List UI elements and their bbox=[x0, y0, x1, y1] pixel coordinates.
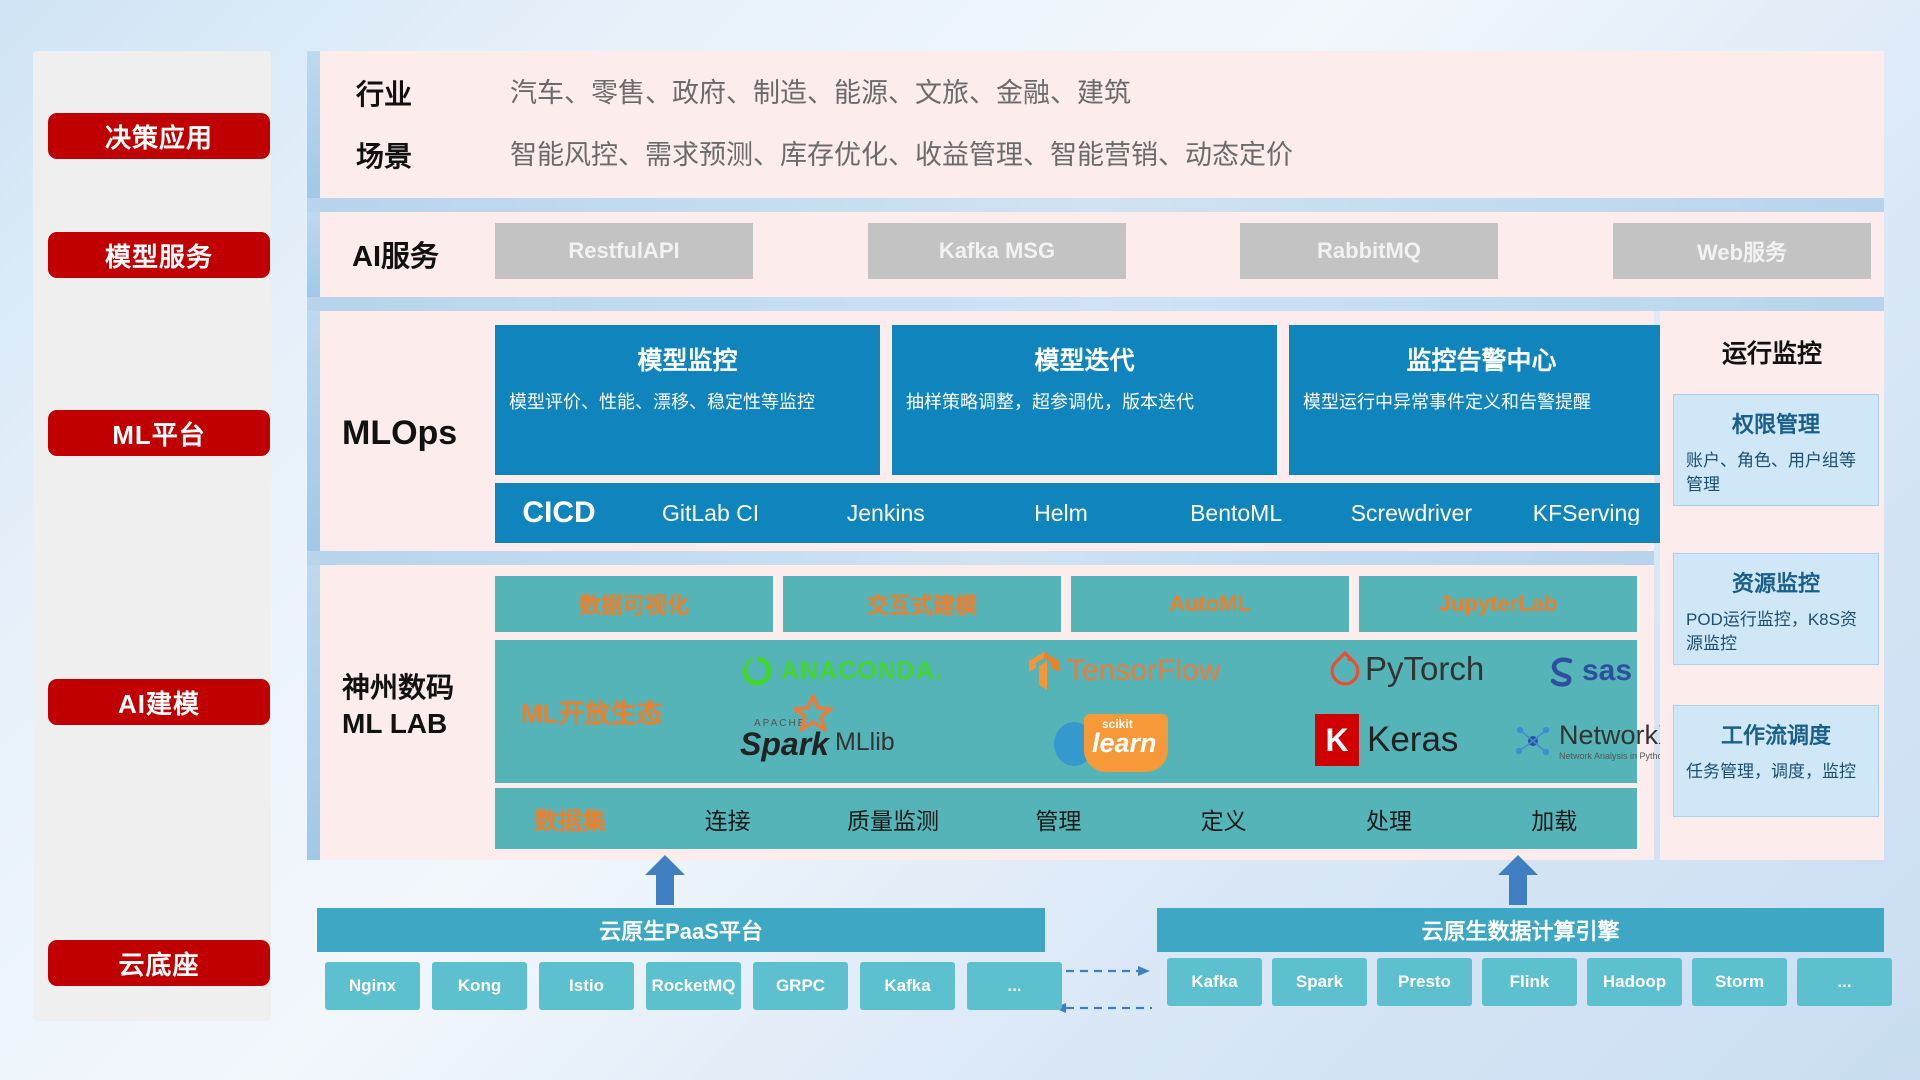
cloud-chip-storm[interactable]: Storm bbox=[1692, 958, 1787, 1006]
cloud-chip-kong[interactable]: Kong bbox=[432, 962, 527, 1010]
card-title: 工作流调度 bbox=[1674, 718, 1878, 750]
arrow-up-data-engine-icon bbox=[1498, 855, 1538, 905]
tab-label: AutoML bbox=[1169, 591, 1251, 617]
band-separator-2 bbox=[307, 297, 1884, 311]
band-edge-aiservice bbox=[307, 212, 320, 297]
networkx-logo: NetworkX Network Analysis in Python bbox=[1513, 720, 1676, 761]
chip-label: ... bbox=[1837, 973, 1851, 992]
networkx-text: NetworkX bbox=[1559, 720, 1676, 751]
tensorflow-text: TensorFlow bbox=[1067, 654, 1220, 688]
dataset-item-process[interactable]: 处理 bbox=[1306, 802, 1471, 836]
keras-logo: K Keras bbox=[1315, 714, 1458, 766]
sidebar-item-decision-app[interactable]: 决策应用 bbox=[48, 113, 270, 159]
scenario-label: 场景 bbox=[356, 131, 476, 179]
sidebar-item-label: 模型服务 bbox=[105, 237, 213, 274]
cloud-chip-rocketmq[interactable]: RocketMQ bbox=[646, 962, 741, 1010]
chip-label: Kafka bbox=[1191, 973, 1237, 992]
cloud-chip-kafka[interactable]: Kafka bbox=[860, 962, 955, 1010]
anaconda-text: ANACONDA. bbox=[781, 657, 943, 686]
ml-lab-label: 神州数码 ML LAB bbox=[342, 670, 502, 743]
cicd-item-helm[interactable]: Helm bbox=[973, 501, 1148, 525]
ai-service-item-kafka-msg[interactable]: Kafka MSG bbox=[868, 223, 1126, 279]
card-title: 监控告警中心 bbox=[1289, 341, 1674, 377]
sidebar-item-cloud-foundation[interactable]: 云底座 bbox=[48, 940, 270, 986]
keras-k-text: K bbox=[1315, 714, 1359, 766]
tab-label: JupyterLab bbox=[1439, 591, 1558, 617]
dataset-bar: 数据集 连接 质量监测 管理 定义 处理 加载 bbox=[495, 788, 1637, 849]
chip-label: RocketMQ bbox=[651, 977, 735, 996]
band-edge-decision bbox=[307, 51, 320, 198]
sidebar-item-label: 云底座 bbox=[118, 945, 199, 982]
card-title: 资源监控 bbox=[1674, 566, 1878, 598]
arrow-up-paas-icon bbox=[645, 855, 685, 905]
cicd-item-jenkins[interactable]: Jenkins bbox=[798, 501, 973, 525]
modeling-tab-automl[interactable]: AutoML bbox=[1071, 576, 1349, 632]
ml-ecosystem-label: ML开放生态 bbox=[521, 693, 663, 730]
item-label: Web服务 bbox=[1697, 235, 1787, 267]
chip-label: ... bbox=[1007, 977, 1021, 996]
cloud-chip-more-left[interactable]: ... bbox=[967, 962, 1062, 1010]
cloud-chip-flink[interactable]: Flink bbox=[1482, 958, 1577, 1006]
chip-label: Presto bbox=[1398, 973, 1451, 992]
card-desc: 模型评价、性能、漂移、稳定性等监控 bbox=[509, 389, 866, 415]
pytorch-logo: PyTorch bbox=[1330, 650, 1484, 688]
cloud-chip-more-right[interactable]: ... bbox=[1797, 958, 1892, 1006]
tensorflow-logo: TensorFlow bbox=[1025, 650, 1220, 692]
cicd-item-screwdriver[interactable]: Screwdriver bbox=[1324, 501, 1499, 525]
monitoring-title: 运行监控 bbox=[1660, 334, 1884, 370]
mlops-label: MLOps bbox=[342, 403, 512, 463]
chip-label: Istio bbox=[569, 977, 604, 996]
sidebar-item-ai-modeling[interactable]: AI建模 bbox=[48, 679, 270, 725]
chip-label: Flink bbox=[1510, 973, 1550, 992]
chip-label: Kafka bbox=[884, 977, 930, 996]
ai-service-item-web-service[interactable]: Web服务 bbox=[1613, 223, 1871, 279]
band-edge-mlops bbox=[307, 311, 320, 551]
card-title: 模型监控 bbox=[495, 341, 880, 377]
cloud-chip-spark[interactable]: Spark bbox=[1272, 958, 1367, 1006]
sidebar-item-label: AI建模 bbox=[118, 684, 200, 721]
mlops-card-model-monitor[interactable]: 模型监控 模型评价、性能、漂移、稳定性等监控 bbox=[495, 325, 880, 475]
card-title: 权限管理 bbox=[1674, 407, 1878, 439]
cloud-chip-kafka-right[interactable]: Kafka bbox=[1167, 958, 1262, 1006]
dataset-item-connect[interactable]: 连接 bbox=[645, 802, 810, 836]
mlops-band: MLOps 模型监控 模型评价、性能、漂移、稳定性等监控 模型迭代 抽样策略调整… bbox=[320, 311, 1654, 551]
dashed-arrow-left-icon bbox=[1052, 1000, 1152, 1016]
chip-label: Kong bbox=[458, 977, 501, 996]
chip-label: Spark bbox=[1296, 973, 1343, 992]
cloud-chip-hadoop[interactable]: Hadoop bbox=[1587, 958, 1682, 1006]
sidebar-item-model-service[interactable]: 模型服务 bbox=[48, 232, 270, 278]
item-label: RestfulAPI bbox=[568, 238, 679, 264]
chip-label: Storm bbox=[1715, 973, 1764, 992]
learn-text: learn bbox=[1092, 728, 1157, 759]
chip-label: Nginx bbox=[349, 977, 396, 996]
ai-service-label: AI服务 bbox=[352, 226, 502, 282]
industry-value: 汽车、零售、政府、制造、能源、文旅、金融、建筑 bbox=[510, 71, 1131, 110]
scenario-value: 智能风控、需求预测、库存优化、收益管理、智能营销、动态定价 bbox=[510, 133, 1293, 172]
cicd-bar: CICD GitLab CI Jenkins Helm BentoML Scre… bbox=[495, 483, 1674, 543]
card-desc: 任务管理，调度，监控 bbox=[1686, 760, 1866, 784]
cloud-paas-header: 云原生PaaS平台 bbox=[317, 908, 1045, 952]
cloud-chip-istio[interactable]: Istio bbox=[539, 962, 634, 1010]
sidebar-item-label: 决策应用 bbox=[105, 118, 213, 155]
card-desc: 模型运行中异常事件定义和告警提醒 bbox=[1303, 389, 1660, 415]
cicd-item-kfserving[interactable]: KFServing bbox=[1499, 501, 1674, 525]
chip-label: Hadoop bbox=[1603, 973, 1666, 992]
decision-app-band: 行业 汽车、零售、政府、制造、能源、文旅、金融、建筑 场景 智能风控、需求预测、… bbox=[320, 51, 1884, 198]
mlops-card-model-iteration[interactable]: 模型迭代 抽样策略调整，超参调优，版本迭代 bbox=[892, 325, 1277, 475]
dashed-arrow-right-icon bbox=[1052, 963, 1152, 979]
cicd-label: CICD bbox=[495, 496, 623, 530]
monitoring-card-permission[interactable]: 权限管理 账户、角色、用户组等管理 bbox=[1673, 394, 1879, 506]
cloud-chip-grpc[interactable]: GRPC bbox=[753, 962, 848, 1010]
cloud-chip-presto[interactable]: Presto bbox=[1377, 958, 1472, 1006]
mllib-text: MLlib bbox=[835, 728, 895, 757]
card-desc: 账户、角色、用户组等管理 bbox=[1686, 449, 1866, 497]
monitoring-card-workflow[interactable]: 工作流调度 任务管理，调度，监控 bbox=[1673, 705, 1879, 817]
band-separator-3 bbox=[307, 551, 1654, 565]
ai-service-band: AI服务 RestfulAPI Kafka MSG RabbitMQ Web服务 bbox=[320, 212, 1884, 297]
sas-text: sas bbox=[1582, 654, 1632, 688]
industry-label: 行业 bbox=[356, 69, 476, 117]
sidebar-item-ml-platform[interactable]: ML平台 bbox=[48, 410, 270, 456]
ml-ecosystem-box: ML开放生态 ANACONDA. TensorFlow PyTorch bbox=[495, 640, 1637, 783]
ai-modeling-band: 神州数码 ML LAB 数据可视化 交互式建模 AutoML JupyterLa… bbox=[320, 565, 1654, 860]
layer-rail bbox=[33, 51, 271, 1021]
pytorch-text: PyTorch bbox=[1365, 650, 1484, 688]
cicd-item-bentoml[interactable]: BentoML bbox=[1149, 501, 1324, 525]
anaconda-logo: ANACONDA. bbox=[740, 654, 943, 688]
monitoring-card-resource[interactable]: 资源监控 POD运行监控，K8S资源监控 bbox=[1673, 553, 1879, 665]
tab-label: 交互式建模 bbox=[867, 588, 977, 620]
dataset-item-quality[interactable]: 质量监测 bbox=[810, 802, 975, 836]
chip-label: GRPC bbox=[776, 977, 825, 996]
architecture-diagram: 决策应用 模型服务 ML平台 AI建模 云底座 行业 汽车、零售、政府、制造、能… bbox=[0, 0, 1920, 1080]
cloud-data-engine-header: 云原生数据计算引擎 bbox=[1157, 908, 1884, 952]
band-edge-aimodeling bbox=[307, 565, 320, 860]
ml-lab-line1: 神州数码 bbox=[342, 670, 502, 706]
modeling-tab-data-viz[interactable]: 数据可视化 bbox=[495, 576, 773, 632]
dataset-item-define[interactable]: 定义 bbox=[1141, 802, 1306, 836]
networkx-sub-text: Network Analysis in Python bbox=[1559, 751, 1676, 761]
dataset-item-load[interactable]: 加载 bbox=[1472, 802, 1637, 836]
spark-mllib-logo: APACHE Spark MLlib bbox=[740, 718, 895, 759]
ml-lab-line2: ML LAB bbox=[342, 706, 502, 742]
sas-logo: sas bbox=[1545, 654, 1632, 688]
keras-text: Keras bbox=[1367, 720, 1458, 760]
cicd-item-gitlab-ci[interactable]: GitLab CI bbox=[623, 501, 798, 525]
card-title: 模型迭代 bbox=[892, 341, 1277, 377]
modeling-tab-interactive[interactable]: 交互式建模 bbox=[783, 576, 1061, 632]
item-label: RabbitMQ bbox=[1317, 238, 1421, 264]
sidebar-item-label: ML平台 bbox=[112, 415, 206, 452]
dataset-item-manage[interactable]: 管理 bbox=[976, 802, 1141, 836]
cloud-chip-nginx[interactable]: Nginx bbox=[325, 962, 420, 1010]
dataset-label: 数据集 bbox=[495, 801, 645, 836]
card-desc: 抽样策略调整，超参调优，版本迭代 bbox=[906, 389, 1263, 415]
band-separator-1 bbox=[307, 198, 1884, 212]
modeling-tab-jupyterlab[interactable]: JupyterLab bbox=[1359, 576, 1637, 632]
item-label: Kafka MSG bbox=[939, 238, 1055, 264]
mlops-card-alert-center[interactable]: 监控告警中心 模型运行中异常事件定义和告警提醒 bbox=[1289, 325, 1674, 475]
card-desc: POD运行监控，K8S资源监控 bbox=[1686, 608, 1866, 656]
tab-label: 数据可视化 bbox=[579, 588, 689, 620]
ai-service-item-restfulapi[interactable]: RestfulAPI bbox=[495, 223, 753, 279]
ai-service-item-rabbitmq[interactable]: RabbitMQ bbox=[1240, 223, 1498, 279]
